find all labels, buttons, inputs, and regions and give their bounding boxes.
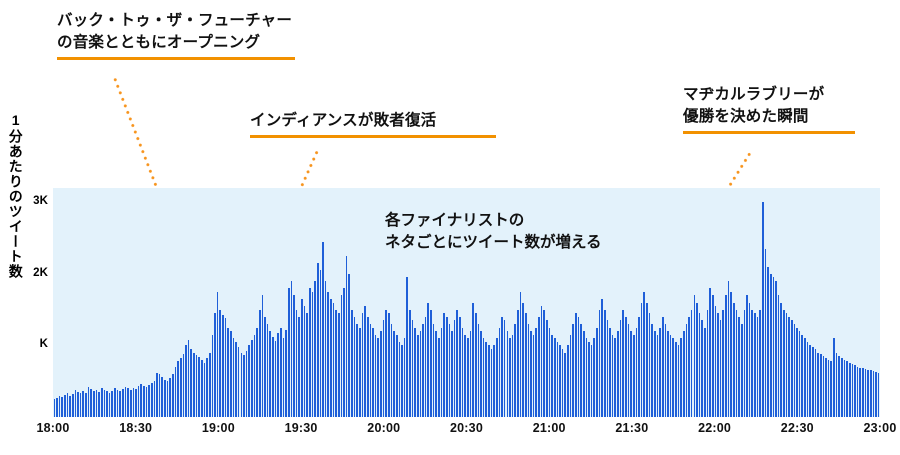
bar bbox=[198, 357, 200, 417]
bar bbox=[333, 303, 335, 418]
bar bbox=[672, 338, 674, 417]
bar bbox=[704, 328, 706, 417]
bar bbox=[233, 338, 235, 417]
x-axis-tick-label: 21:00 bbox=[519, 421, 579, 435]
bar bbox=[130, 390, 132, 417]
bar bbox=[791, 320, 793, 417]
bar bbox=[75, 390, 77, 417]
bar bbox=[338, 313, 340, 417]
annotation-opening-rule bbox=[57, 57, 295, 60]
bar bbox=[291, 281, 293, 417]
bar bbox=[304, 306, 306, 417]
bar bbox=[459, 317, 461, 417]
bar bbox=[441, 328, 443, 417]
bar bbox=[517, 310, 519, 417]
bar bbox=[575, 313, 577, 417]
bar bbox=[446, 317, 448, 417]
bar bbox=[801, 335, 803, 417]
bar bbox=[546, 320, 548, 417]
x-axis-tick-label: 19:00 bbox=[188, 421, 248, 435]
bar bbox=[77, 392, 79, 417]
bar bbox=[512, 335, 514, 417]
bar bbox=[852, 364, 854, 417]
bar bbox=[227, 328, 229, 417]
bar bbox=[61, 397, 63, 417]
bar bbox=[348, 274, 350, 417]
x-axis-tick-label: 22:30 bbox=[767, 421, 827, 435]
bar bbox=[127, 388, 129, 417]
bar bbox=[749, 303, 751, 418]
bar bbox=[404, 338, 406, 417]
bar bbox=[820, 354, 822, 417]
bar bbox=[370, 324, 372, 417]
bar bbox=[530, 331, 532, 417]
bar bbox=[514, 324, 516, 417]
bar bbox=[578, 317, 580, 417]
bar bbox=[243, 355, 245, 417]
bar bbox=[670, 335, 672, 417]
bar bbox=[385, 310, 387, 417]
bar bbox=[543, 310, 545, 417]
annotation-winner-text: マヂカルラブリーが 優勝を決めた瞬間 bbox=[683, 84, 855, 128]
bar bbox=[133, 388, 135, 417]
bar bbox=[833, 338, 835, 417]
bar bbox=[425, 317, 427, 417]
bar bbox=[341, 295, 343, 417]
bar bbox=[399, 342, 401, 417]
bar bbox=[662, 317, 664, 417]
bar bbox=[343, 288, 345, 417]
bar bbox=[293, 295, 295, 417]
bar bbox=[665, 324, 667, 417]
annotation-indians-text: インディアンスが敗者復活 bbox=[250, 110, 496, 132]
bar bbox=[691, 310, 693, 417]
bar bbox=[601, 299, 603, 417]
bar bbox=[470, 331, 472, 417]
bar bbox=[180, 358, 182, 417]
bar bbox=[335, 310, 337, 417]
bar bbox=[201, 360, 203, 417]
bar bbox=[417, 335, 419, 417]
bar bbox=[59, 396, 61, 417]
y-axis-tick-label: 3K bbox=[20, 195, 48, 207]
bar bbox=[412, 320, 414, 417]
bar bbox=[451, 331, 453, 417]
bar bbox=[496, 338, 498, 417]
bar bbox=[90, 389, 92, 417]
bar bbox=[625, 317, 627, 417]
bar bbox=[654, 331, 656, 417]
bar bbox=[356, 324, 358, 417]
bar bbox=[96, 390, 98, 417]
bar bbox=[754, 313, 756, 417]
bar bbox=[88, 387, 90, 417]
bar bbox=[354, 317, 356, 417]
bar bbox=[783, 310, 785, 417]
bar bbox=[427, 303, 429, 418]
bar bbox=[549, 328, 551, 417]
bar bbox=[620, 320, 622, 417]
bar bbox=[262, 295, 264, 417]
bar bbox=[206, 358, 208, 417]
bar bbox=[586, 338, 588, 417]
bar bbox=[867, 370, 869, 417]
bar bbox=[462, 328, 464, 417]
bar bbox=[694, 295, 696, 417]
bar bbox=[64, 395, 66, 417]
bar bbox=[599, 310, 601, 417]
bar bbox=[111, 391, 113, 417]
bar bbox=[823, 356, 825, 417]
bar bbox=[678, 345, 680, 417]
bar bbox=[72, 394, 74, 417]
bar bbox=[306, 313, 308, 417]
inchart-note: 各ファイナリストの ネタごとにツイート数が増える bbox=[385, 210, 602, 255]
bar bbox=[254, 335, 256, 417]
x-axis-tick-label: 18:30 bbox=[106, 421, 166, 435]
bar bbox=[483, 338, 485, 417]
x-axis-tick-label: 22:00 bbox=[685, 421, 745, 435]
bar bbox=[659, 328, 661, 417]
bar bbox=[501, 317, 503, 417]
bar bbox=[251, 340, 253, 417]
bar bbox=[878, 373, 880, 417]
bar bbox=[169, 378, 171, 417]
bar bbox=[449, 324, 451, 417]
bar bbox=[828, 360, 830, 417]
bar bbox=[320, 270, 322, 417]
bar bbox=[628, 324, 630, 417]
bar bbox=[135, 389, 137, 417]
bar bbox=[778, 295, 780, 417]
bar bbox=[554, 338, 556, 417]
bar bbox=[535, 328, 537, 417]
bar bbox=[472, 303, 474, 418]
bar bbox=[119, 391, 121, 417]
bar bbox=[751, 310, 753, 417]
bar bbox=[346, 256, 348, 417]
bar bbox=[225, 318, 227, 417]
bar bbox=[859, 368, 861, 417]
bar bbox=[762, 202, 764, 417]
bar bbox=[109, 393, 111, 417]
x-axis-tick-label: 20:30 bbox=[437, 421, 497, 435]
bar bbox=[873, 371, 875, 417]
bar bbox=[283, 338, 285, 417]
bar bbox=[562, 349, 564, 417]
bar bbox=[80, 393, 82, 417]
bar bbox=[54, 399, 56, 417]
bar bbox=[657, 335, 659, 417]
bar bbox=[214, 313, 216, 417]
bar bbox=[367, 317, 369, 417]
bar bbox=[272, 337, 274, 417]
bar bbox=[288, 288, 290, 417]
bar bbox=[709, 288, 711, 417]
bar bbox=[807, 342, 809, 417]
bar bbox=[730, 292, 732, 417]
bar bbox=[248, 345, 250, 417]
bar bbox=[825, 358, 827, 417]
bar bbox=[98, 392, 100, 417]
bar bbox=[596, 328, 598, 417]
bar bbox=[85, 393, 87, 417]
bar bbox=[854, 365, 856, 417]
bar bbox=[383, 320, 385, 417]
bar bbox=[391, 324, 393, 417]
bar bbox=[246, 351, 248, 417]
bar bbox=[770, 274, 772, 417]
bar bbox=[551, 335, 553, 417]
bar bbox=[857, 367, 859, 417]
bar bbox=[101, 388, 103, 417]
bar bbox=[393, 331, 395, 417]
bar bbox=[609, 328, 611, 417]
bar bbox=[275, 341, 277, 417]
bar bbox=[757, 317, 759, 417]
bar bbox=[325, 281, 327, 417]
annotation-winner: マヂカルラブリーが 優勝を決めた瞬間 bbox=[683, 84, 855, 134]
bar bbox=[675, 342, 677, 417]
bar bbox=[377, 338, 379, 417]
bar bbox=[728, 281, 730, 417]
bar bbox=[183, 354, 185, 417]
bar bbox=[612, 335, 614, 417]
bar bbox=[701, 320, 703, 417]
bar bbox=[667, 331, 669, 417]
bar bbox=[454, 320, 456, 417]
bar bbox=[456, 310, 458, 417]
bar bbox=[175, 367, 177, 417]
bar bbox=[69, 396, 71, 417]
bar bbox=[122, 389, 124, 417]
bar bbox=[838, 356, 840, 417]
bar bbox=[746, 295, 748, 417]
bar bbox=[614, 338, 616, 417]
bar bbox=[196, 355, 198, 417]
bar bbox=[443, 313, 445, 417]
bar bbox=[736, 310, 738, 417]
bar bbox=[780, 303, 782, 418]
x-axis-tick-label: 21:30 bbox=[602, 421, 662, 435]
bar bbox=[438, 338, 440, 417]
bar bbox=[557, 342, 559, 417]
bar bbox=[696, 303, 698, 418]
bar bbox=[722, 310, 724, 417]
bar bbox=[646, 303, 648, 418]
bar bbox=[167, 381, 169, 417]
bar bbox=[327, 292, 329, 417]
bar bbox=[154, 381, 156, 417]
bar bbox=[830, 361, 832, 417]
bar bbox=[846, 361, 848, 417]
annotation-winner-rule bbox=[683, 131, 855, 134]
annotation-opening-text: バック・トゥ・ザ・フューチャー の音楽とともにオープニング bbox=[57, 10, 297, 54]
bar bbox=[467, 338, 469, 417]
bar bbox=[799, 331, 801, 417]
bar bbox=[322, 242, 324, 417]
bar bbox=[688, 317, 690, 417]
bar bbox=[359, 328, 361, 417]
bar bbox=[686, 324, 688, 417]
bar bbox=[767, 267, 769, 417]
bar bbox=[406, 277, 408, 417]
bar bbox=[604, 310, 606, 417]
bar bbox=[533, 335, 535, 417]
bar bbox=[485, 342, 487, 417]
bar bbox=[638, 317, 640, 417]
bar bbox=[435, 331, 437, 417]
bar bbox=[269, 331, 271, 417]
bar bbox=[651, 324, 653, 417]
bar bbox=[794, 324, 796, 417]
bar bbox=[351, 310, 353, 417]
bar bbox=[312, 292, 314, 417]
x-axis-tick-label: 19:30 bbox=[271, 421, 331, 435]
bar bbox=[238, 347, 240, 417]
bar bbox=[330, 299, 332, 417]
bar bbox=[177, 361, 179, 417]
bar bbox=[314, 281, 316, 417]
bar bbox=[633, 335, 635, 417]
bar bbox=[159, 374, 161, 417]
bar bbox=[409, 310, 411, 417]
bar bbox=[420, 331, 422, 417]
bar bbox=[380, 331, 382, 417]
bar bbox=[570, 335, 572, 417]
bar bbox=[733, 303, 735, 418]
bar bbox=[204, 363, 206, 417]
bar bbox=[317, 263, 319, 417]
bar bbox=[259, 310, 261, 417]
x-axis-tick-label: 18:00 bbox=[23, 421, 83, 435]
bar bbox=[219, 310, 221, 417]
bar bbox=[217, 292, 219, 417]
bar bbox=[844, 360, 846, 417]
bar bbox=[241, 353, 243, 417]
bar bbox=[875, 372, 877, 417]
bar bbox=[422, 324, 424, 417]
bar bbox=[362, 313, 364, 417]
bar bbox=[815, 349, 817, 417]
bar bbox=[643, 292, 645, 417]
bar bbox=[82, 391, 84, 417]
bar bbox=[56, 398, 58, 417]
bar bbox=[715, 306, 717, 417]
bar bbox=[401, 345, 403, 417]
bar bbox=[117, 390, 119, 417]
bar bbox=[172, 374, 174, 417]
bar bbox=[114, 388, 116, 417]
bar bbox=[148, 385, 150, 417]
bar bbox=[788, 317, 790, 417]
annotation-opening: バック・トゥ・ザ・フューチャー の音楽とともにオープニング bbox=[57, 10, 297, 60]
bar bbox=[475, 313, 477, 417]
bar bbox=[480, 331, 482, 417]
bar bbox=[617, 331, 619, 417]
bar bbox=[773, 277, 775, 417]
bar bbox=[67, 393, 69, 417]
bar bbox=[414, 328, 416, 417]
bar bbox=[507, 331, 509, 417]
bar bbox=[478, 324, 480, 417]
bar bbox=[712, 295, 714, 417]
bar bbox=[741, 324, 743, 417]
bar bbox=[499, 328, 501, 417]
bar bbox=[433, 324, 435, 417]
bar bbox=[588, 342, 590, 417]
bar bbox=[164, 380, 166, 417]
bar bbox=[430, 310, 432, 417]
bar bbox=[641, 303, 643, 418]
bar bbox=[125, 387, 127, 417]
bar bbox=[525, 313, 527, 417]
bar bbox=[156, 373, 158, 417]
bar bbox=[375, 335, 377, 417]
bar bbox=[364, 306, 366, 417]
bar bbox=[622, 310, 624, 417]
bar bbox=[493, 345, 495, 417]
y-axis-tick-label: K bbox=[20, 338, 48, 350]
bar bbox=[765, 249, 767, 417]
bar bbox=[104, 390, 106, 417]
bar bbox=[717, 313, 719, 417]
bar bbox=[812, 347, 814, 417]
bar bbox=[106, 391, 108, 417]
bar bbox=[285, 330, 287, 417]
bar bbox=[564, 353, 566, 417]
bar bbox=[528, 324, 530, 417]
bar bbox=[538, 317, 540, 417]
bar bbox=[143, 386, 145, 417]
bar bbox=[161, 377, 163, 417]
annotation-indians-rule bbox=[250, 135, 496, 138]
y-axis-tick-label: 2K bbox=[20, 267, 48, 279]
bar bbox=[725, 295, 727, 417]
bar bbox=[630, 331, 632, 417]
bar bbox=[541, 306, 543, 417]
bar bbox=[841, 358, 843, 417]
chart-page: バック・トゥ・ザ・フューチャー の音楽とともにオープニング インディアンスが敗者… bbox=[0, 0, 900, 455]
bar bbox=[188, 340, 190, 417]
bar bbox=[809, 345, 811, 417]
bar bbox=[836, 353, 838, 417]
bar bbox=[209, 353, 211, 417]
bar bbox=[491, 349, 493, 417]
bar bbox=[190, 349, 192, 417]
bar bbox=[504, 320, 506, 417]
bar bbox=[256, 328, 258, 417]
bar bbox=[804, 338, 806, 417]
bar bbox=[388, 313, 390, 417]
bar bbox=[593, 338, 595, 417]
bar bbox=[309, 288, 311, 417]
bar bbox=[264, 317, 266, 417]
bar bbox=[817, 353, 819, 417]
bar bbox=[185, 345, 187, 417]
bar bbox=[567, 345, 569, 417]
bar bbox=[744, 310, 746, 417]
bar bbox=[580, 324, 582, 417]
bar bbox=[151, 383, 153, 417]
bar bbox=[707, 310, 709, 417]
bar bbox=[607, 320, 609, 417]
bar bbox=[775, 281, 777, 417]
bar bbox=[93, 391, 95, 417]
x-axis-tick-label: 20:00 bbox=[354, 421, 414, 435]
x-axis-tick-label: 23:00 bbox=[850, 421, 900, 435]
bar bbox=[277, 333, 279, 417]
